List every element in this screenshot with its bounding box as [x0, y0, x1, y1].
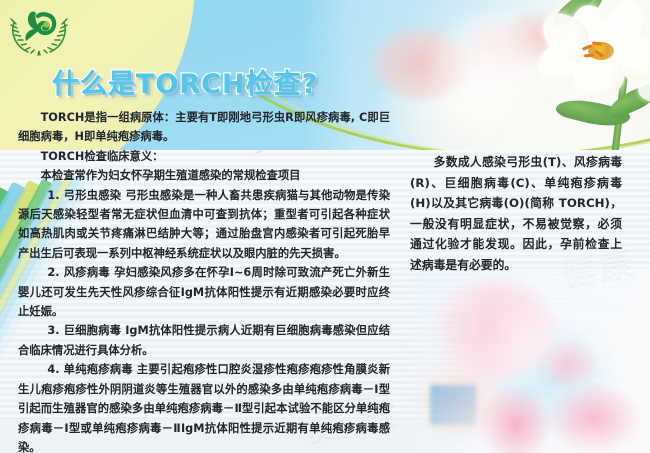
photo-soft-light	[430, 10, 580, 130]
paragraph: TORCH是指一组病原体：主要有T即刚地弓形虫R即风疹病毒, C即巨细胞病毒，H…	[18, 108, 390, 147]
poster-canvas: 健康 健康 健康	[0, 0, 650, 453]
paragraph: 2. 风疹病毒 孕妇感染风疹多在怀孕I~6周时除可致流产死亡外新生婴儿还可发生先…	[18, 263, 390, 321]
health-bureau-logo	[8, 4, 70, 56]
page-title: 什么是TORCH检查?	[52, 62, 318, 101]
paragraph: TORCH检查临床意义：	[18, 147, 390, 166]
paragraph: 1. 弓形虫感染 弓形虫感染是一种人畜共患疾病猫与其他动物是传染源后天感染轻型者…	[18, 186, 390, 264]
article-left-column: TORCH是指一组病原体：主要有T即刚地弓形虫R即风疹病毒, C即巨细胞病毒，H…	[18, 108, 390, 453]
lily-flower-decoration	[520, 0, 650, 150]
paragraph: 3. 巨细胞病毒 IgM抗体阳性提示病人近期有巨细胞病毒感染但应结合临床情况进行…	[18, 321, 390, 360]
paragraph: 本检查常作为妇女怀孕期生殖道感染的常规检查项目	[18, 166, 390, 185]
article-right-column: 多数成人感染弓形虫(T)、风疹病毒(R)、巨细胞病毒(C)、单纯疱疹病毒(H)以…	[410, 152, 622, 275]
baby-photo-bottom-right	[398, 268, 650, 453]
photo-glow	[470, 300, 580, 390]
photo-blue-accent	[430, 385, 476, 425]
paragraph: 多数成人感染弓形虫(T)、风疹病毒(R)、巨细胞病毒(C)、单纯疱疹病毒(H)以…	[410, 152, 622, 275]
paragraph: 4. 单纯疱疹病毒 主要引起疱疹性口腔炎湿疹性疱疹疱疹性角膜炎新生儿疱疹疱疹性外…	[18, 360, 390, 453]
